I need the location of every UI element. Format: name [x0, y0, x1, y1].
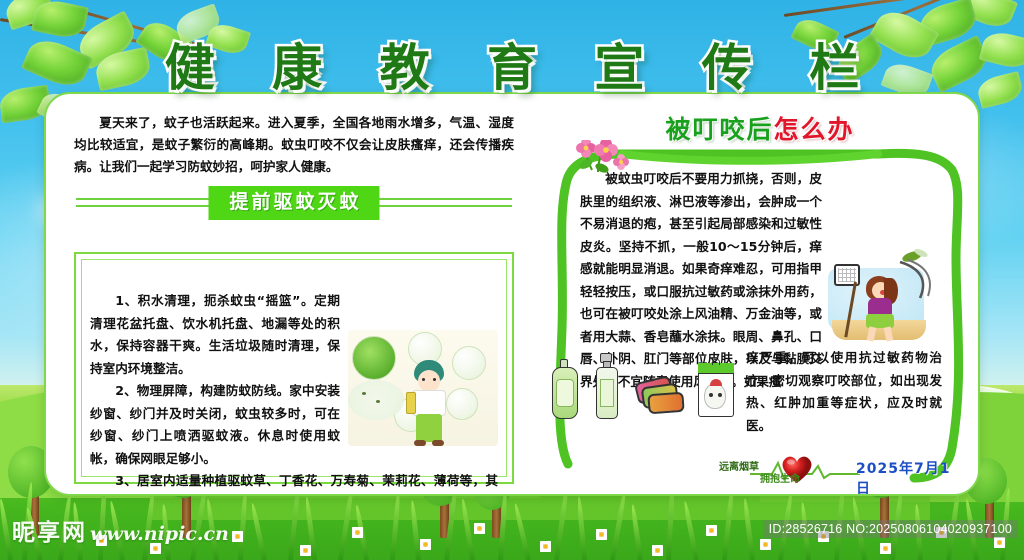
site-watermark: 昵享网 www.nipic.cn: [12, 513, 229, 547]
image-id-watermark: ID:28526716 NO:20250806104020937100: [763, 520, 1018, 538]
page-title: 健 康 教 育 宣 传 栏: [145, 28, 879, 100]
section-header-row: 提前驱蚊灭蚊: [68, 186, 520, 220]
health-slogan-stamp: 远离烟草 拥抱生命 2025年7月1日: [706, 452, 956, 486]
intro-paragraph: 夏天来了，蚊子也活跃起来。进入夏季，全国各地雨水增多，气温、湿度均比较适宜，是蚊…: [68, 102, 520, 178]
poster-canvas: 健 康 教 育 宣 传 栏 夏天来了，蚊子也活跃起来。进入夏季，全国各地雨水增多…: [0, 0, 1024, 560]
illustration-boy-repellents: [348, 330, 498, 446]
repellent-products-illustration: [552, 349, 742, 441]
right-heading-red: 怎么办: [774, 115, 855, 144]
site-watermark-cn: 昵享网: [12, 513, 87, 547]
left-column: 夏天来了，蚊子也活跃起来。进入夏季，全国各地雨水增多，气温、湿度均比较适宜，是蚊…: [68, 102, 520, 490]
flower-decoration-icon: [576, 140, 634, 182]
bite-treatment-tail: 痒严重，可以使用抗过敏药物治疗。密切观察叮咬部位，如出现发热、红肿加重等症状，应…: [746, 347, 942, 437]
right-heading-green: 被叮咬后: [665, 115, 773, 144]
section-badge-prevention: 提前驱蚊灭蚊: [208, 186, 379, 220]
publish-date: 2025年7月1日: [856, 458, 956, 496]
site-watermark-url: www.nipic.cn: [90, 523, 229, 545]
right-column: 被叮咬后怎么办: [538, 94, 980, 496]
prevention-text-block: 1、积水清理，扼杀蚊虫“摇篮”。定期清理花盆托盘、饮水机托盘、地漏等处的积水，保…: [90, 290, 498, 496]
slogan-line-2: 拥抱生命: [742, 470, 818, 485]
prevention-item-3: 3、居室内适量种植驱蚊草、丁香花、万寿菊、茉莉花、薄荷等，其浓郁的气味，有一定的…: [90, 470, 498, 496]
content-card: 夏天来了，蚊子也活跃起来。进入夏季，全国各地雨水增多，气温、湿度均比较适宜，是蚊…: [44, 92, 980, 496]
poster-title-wrap: 健 康 教 育 宣 传 栏: [0, 28, 1024, 100]
